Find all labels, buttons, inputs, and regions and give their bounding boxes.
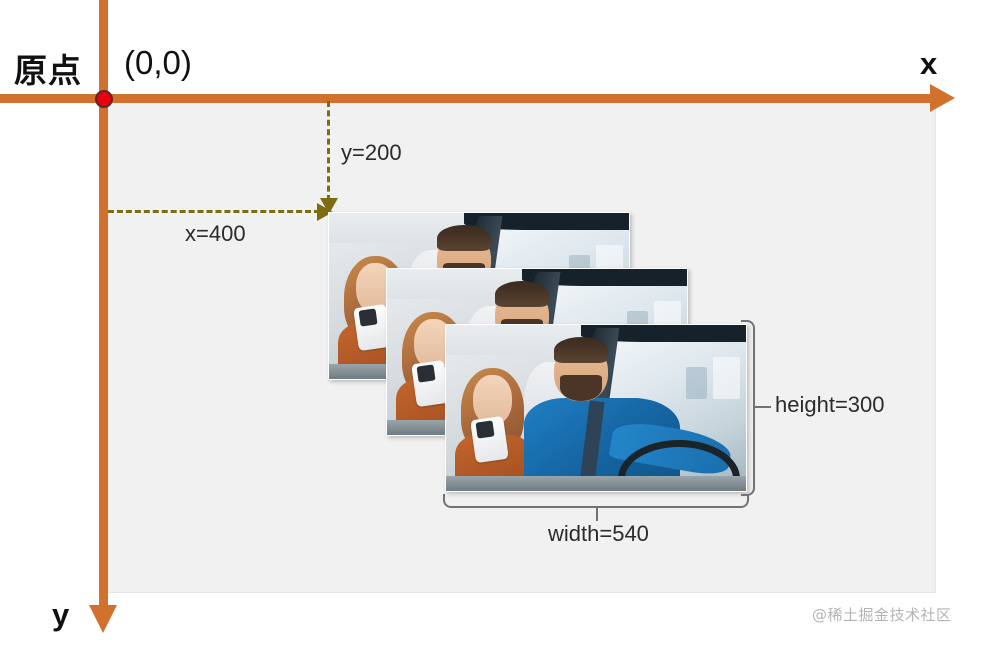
x-offset-label: x=400 xyxy=(185,221,246,247)
x-offset-dashed-line xyxy=(108,210,320,213)
width-bracket xyxy=(443,494,749,508)
photo-man-hair xyxy=(554,337,608,364)
photo-dashboard xyxy=(446,476,746,491)
photo-phone-screen xyxy=(359,309,378,327)
diagram-canvas: 原点 (0,0) x y y=200 x=400 xyxy=(0,0,997,645)
photo-man-hair xyxy=(495,281,549,308)
height-label: height=300 xyxy=(775,392,885,418)
photo-phone-screen xyxy=(417,365,436,383)
photo-scene xyxy=(446,325,746,491)
width-label: width=540 xyxy=(548,521,649,547)
y-offset-dashed-line xyxy=(327,101,330,201)
origin-label: 原点 xyxy=(14,44,82,92)
width-bracket-tick xyxy=(596,507,598,521)
x-axis-arrow-icon xyxy=(930,84,955,112)
stacked-image-front xyxy=(445,324,747,492)
x-axis-line xyxy=(0,94,935,103)
photo-street-building xyxy=(713,357,740,398)
y-offset-label: y=200 xyxy=(341,140,402,166)
y-axis-arrow-icon xyxy=(89,605,117,633)
photo-man-hair xyxy=(437,225,491,252)
photo-phone-screen xyxy=(476,421,495,439)
height-bracket-tick xyxy=(755,406,771,408)
y-axis-label: y xyxy=(52,597,69,633)
photo-street-car xyxy=(686,367,707,399)
origin-coordinate-label: (0,0) xyxy=(124,44,192,82)
x-axis-label: x xyxy=(920,46,937,82)
watermark-text: @稀土掘金技术社区 xyxy=(812,604,952,625)
photo-smartphone xyxy=(470,416,509,463)
height-bracket xyxy=(741,320,755,496)
origin-point-marker xyxy=(95,90,113,108)
